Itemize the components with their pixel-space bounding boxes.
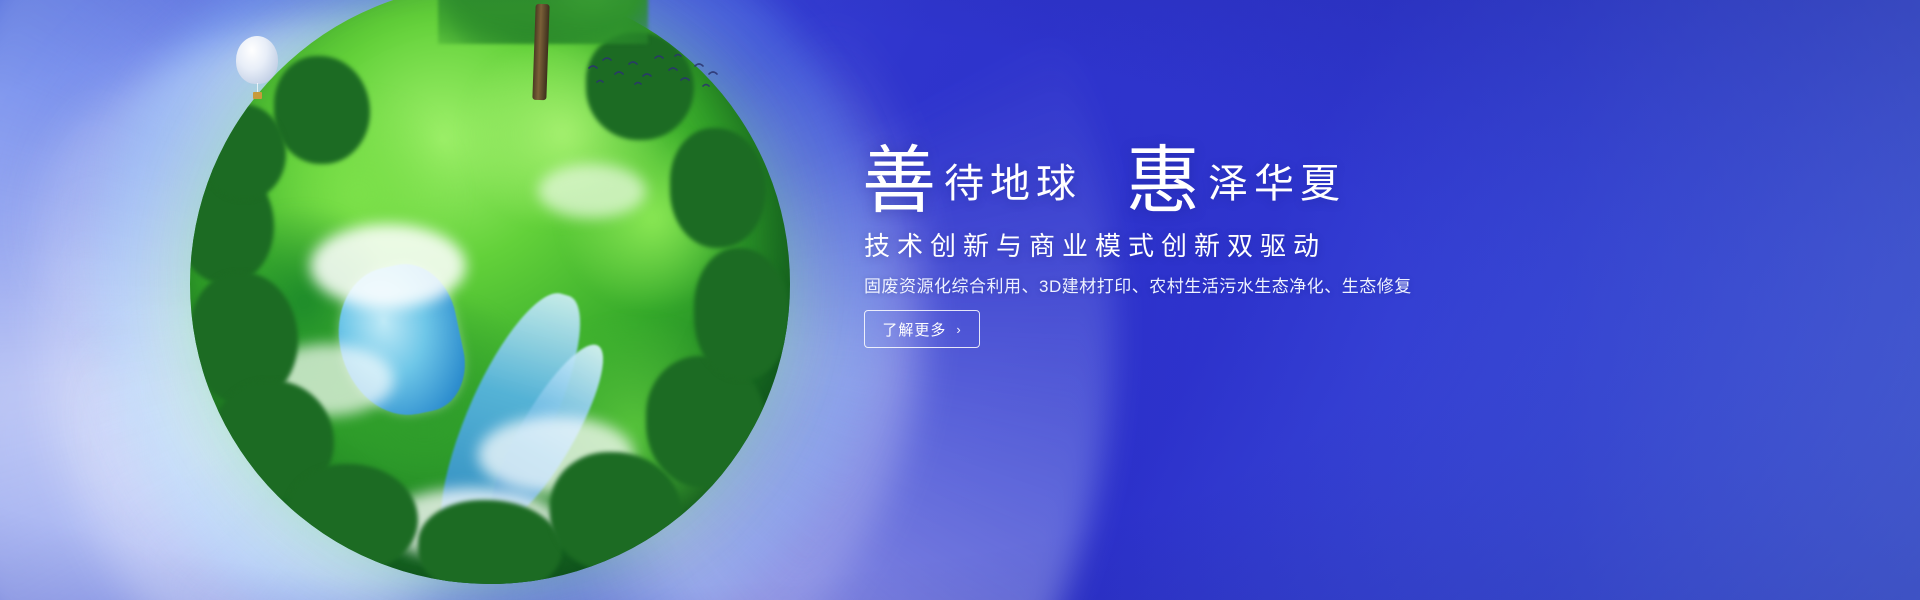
hero-headline: 善 待地球 惠 泽华夏 (862, 140, 1562, 214)
hero-subtitle: 技术创新与商业模式创新双驱动 (864, 226, 1326, 263)
learn-more-label: 了解更多 (882, 319, 946, 340)
chevron-right-icon: › (956, 322, 961, 337)
headline-phrase-two: 惠 泽华夏 (1126, 140, 1346, 214)
headline-big-char-2: 惠 (1126, 144, 1200, 218)
learn-more-button[interactable]: 了解更多 › (864, 310, 980, 348)
headline-small-chars-1: 待地球 (944, 164, 1082, 204)
headline-phrase-one: 善 待地球 (862, 140, 1082, 214)
hero-description: 固废资源化综合利用、3D建材打印、农村生活污水生态净化、生态修复 (864, 272, 1412, 297)
hero-content: 善 待地球 惠 泽华夏 技术创新与商业模式创新双驱动 固废资源化综合利用、3D建… (862, 0, 1562, 600)
headline-small-chars-2: 泽华夏 (1208, 164, 1346, 204)
hero-banner: 善 待地球 惠 泽华夏 技术创新与商业模式创新双驱动 固废资源化综合利用、3D建… (0, 0, 1920, 600)
headline-big-char-1: 善 (862, 144, 936, 218)
